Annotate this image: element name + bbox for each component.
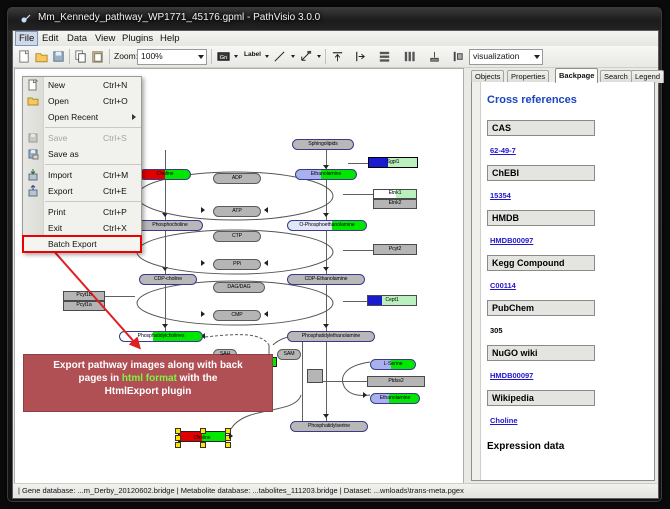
interaction-dropdown-arrow[interactable] xyxy=(317,55,321,58)
menu-item-label: Open xyxy=(48,96,69,106)
pathway-node-o-phosphoethanolamine[interactable]: O-Phosphoethanolamine xyxy=(287,220,367,231)
arrowhead-icon xyxy=(264,207,268,213)
tool-bar: Zoom: 100% Gn Label xyxy=(13,46,658,68)
menu-item-open-recent[interactable]: Open Recent xyxy=(23,109,141,125)
pathway-node-l-serine[interactable]: L-Serine xyxy=(370,359,416,370)
cofactor-node-ctp[interactable]: CTP xyxy=(213,231,261,242)
arrowhead-icon xyxy=(323,414,329,418)
gene-connector xyxy=(348,163,368,164)
gene-node-ptdss2[interactable]: Ptdss2 xyxy=(367,376,425,387)
pathway-node-ethanolamine[interactable]: Ethanolamine xyxy=(295,169,357,180)
side-panel: Objects Properties Backpage Search Legen… xyxy=(465,68,656,483)
gene-node-etnk1[interactable]: Etnk1 xyxy=(373,189,417,199)
expression-half-left xyxy=(369,158,388,167)
import-icon xyxy=(27,169,39,181)
visualization-combo[interactable]: visualization xyxy=(469,49,543,65)
menu-item-import[interactable]: Import Ctrl+M xyxy=(23,167,141,183)
menu-separator xyxy=(45,201,141,202)
toolbar-separator-3 xyxy=(211,49,212,64)
menu-item-label: New xyxy=(48,80,65,90)
annotation-callout: Export pathway images along with back pa… xyxy=(23,354,273,412)
xref-value-cas[interactable]: 62-49-7 xyxy=(490,146,516,155)
menu-item-print[interactable]: Print Ctrl+P xyxy=(23,204,141,220)
arrowhead-icon xyxy=(264,311,268,317)
backpage-panel: Cross references CAS 62-49-7 ChEBI 15354… xyxy=(471,82,655,481)
open-folder-icon xyxy=(27,95,39,107)
arrowhead-icon xyxy=(264,260,268,266)
xref-label-chebi: ChEBI xyxy=(487,165,595,181)
file-menu-popup[interactable]: New Ctrl+N Open Ctrl+O Open Recent Save xyxy=(22,76,142,253)
menu-item-batch-export[interactable]: Batch Export xyxy=(23,236,141,252)
menu-item-accel: Ctrl+M xyxy=(103,170,128,180)
xref-label-hmdb: HMDB xyxy=(487,210,595,226)
pathway-node-ethanolamine-2[interactable]: Ethanolamine xyxy=(370,393,420,404)
menu-item-accel: Ctrl+S xyxy=(103,133,127,143)
xref-value-nugo[interactable]: HMDB00097 xyxy=(490,371,533,380)
align-top-icon[interactable] xyxy=(330,49,345,64)
menu-item-open[interactable]: Open Ctrl+O xyxy=(23,93,141,109)
menu-file[interactable]: File xyxy=(15,31,38,46)
selection-handle[interactable] xyxy=(175,428,181,434)
new-document-icon xyxy=(27,79,39,91)
label-dropdown-arrow[interactable] xyxy=(265,55,269,58)
menu-bar: File Edit Data View Plugins Help xyxy=(13,31,658,47)
gene-connector xyxy=(343,301,367,302)
expression-half-left xyxy=(368,296,382,305)
label-button[interactable]: Label xyxy=(244,51,261,58)
menu-item-label: Batch Export xyxy=(48,239,97,249)
pathway-node-cdp-ethanolamine[interactable]: CDP-Ethanolamine xyxy=(287,274,365,285)
gene-node-sgpl1[interactable]: Sgpl1 xyxy=(368,157,418,168)
line-icon[interactable] xyxy=(272,49,287,64)
chevron-down-icon xyxy=(534,55,540,59)
xref-label-wikipedia: Wikipedia xyxy=(487,390,595,406)
selection-handle[interactable] xyxy=(200,428,206,434)
menu-item-label: Import xyxy=(48,170,72,180)
menu-item-label: Print xyxy=(48,207,65,217)
menu-separator xyxy=(45,127,141,128)
export-icon xyxy=(27,185,39,197)
new-icon[interactable] xyxy=(17,49,32,64)
pathway-node-sphingolipids[interactable]: Sphingolipids xyxy=(292,139,354,150)
client-area: File Edit Data View Plugins Help Zoom: 1… xyxy=(12,30,659,499)
menu-edit[interactable]: Edit xyxy=(38,32,62,45)
order-icon[interactable] xyxy=(450,49,465,64)
pathvisio-app-icon xyxy=(20,13,32,25)
toolbar-separator-4 xyxy=(325,49,326,64)
app-window: Mm_Kennedy_pathway_WP1771_45176.gpml - P… xyxy=(0,0,670,509)
gene-node-cept1[interactable]: Cept1 xyxy=(367,295,417,306)
annotation-line-3: HtmlExport plugin xyxy=(30,385,266,398)
cofactor-node-sam[interactable]: SAM xyxy=(277,349,301,360)
xref-label-pubchem: PubChem xyxy=(487,300,595,316)
zoom-combo[interactable]: 100% xyxy=(137,49,207,65)
menu-item-new[interactable]: New Ctrl+N xyxy=(23,77,141,93)
visualization-value: visualization xyxy=(473,51,519,61)
arrowhead-icon xyxy=(229,433,233,439)
menu-item-export[interactable]: Export Ctrl+E xyxy=(23,183,141,199)
cofactor-node-ppi[interactable]: PPi xyxy=(213,259,261,270)
status-bar: | Gene database: ...m_Derby_20120602.bri… xyxy=(14,483,657,497)
annotation-line-1: Export pathway images along with back xyxy=(30,359,266,372)
menu-item-label: Exit xyxy=(48,223,62,233)
arrowhead-icon xyxy=(363,392,367,398)
annotation-highlight: html format xyxy=(122,373,177,384)
selection-handle[interactable] xyxy=(225,442,231,448)
menu-item-label: Save as xyxy=(48,149,79,159)
title-bar: Mm_Kennedy_pathway_WP1771_45176.gpml - P… xyxy=(8,8,661,30)
selection-handle[interactable] xyxy=(175,442,181,448)
annotation-line-2-pre: pages in xyxy=(79,373,122,384)
menu-item-accel: Ctrl+O xyxy=(103,96,128,106)
menu-item-label: Export xyxy=(48,186,73,196)
xref-label-nugo: NuGO wiki xyxy=(487,345,595,361)
gene-connector xyxy=(343,250,373,251)
cofactor-node-dag[interactable]: DAG/DAG xyxy=(213,282,265,293)
pathway-node-choline[interactable]: Choline xyxy=(139,169,191,180)
menu-data[interactable]: Data xyxy=(63,32,91,45)
xref-value-wikipedia[interactable]: Choline xyxy=(490,416,518,425)
gene-node-pcyt2[interactable]: Pcyt2 xyxy=(373,244,417,255)
svg-text:Gn: Gn xyxy=(220,55,227,61)
panel-tabstrip: Objects Properties Backpage Search Legen… xyxy=(471,68,656,82)
save-disk-icon xyxy=(27,132,39,144)
copy-icon[interactable] xyxy=(73,49,88,64)
distribute-icon[interactable] xyxy=(402,49,417,64)
window-title: Mm_Kennedy_pathway_WP1771_45176.gpml - P… xyxy=(38,12,320,23)
menu-separator xyxy=(45,164,141,165)
toolbar-separator-2 xyxy=(109,49,110,64)
group-icon[interactable] xyxy=(427,49,442,64)
menu-item-label: Save xyxy=(48,133,67,143)
zoom-label: Zoom: xyxy=(114,51,138,61)
datanode-dropdown-arrow[interactable] xyxy=(234,55,238,58)
xref-value-chebi[interactable]: 15354 xyxy=(490,191,511,200)
xref-label-kegg: Kegg Compound xyxy=(487,255,595,271)
save-as-icon xyxy=(27,148,39,160)
gene-node-etnk2[interactable]: Etnk2 xyxy=(373,199,417,209)
selection-handle[interactable] xyxy=(200,442,206,448)
align-left-icon[interactable] xyxy=(353,49,368,64)
menu-item-label: Open Recent xyxy=(48,112,98,122)
zoom-value: 100% xyxy=(141,51,163,61)
annotation-line-2-post: with the xyxy=(177,373,218,384)
backpage-content: Cross references CAS 62-49-7 ChEBI 15354… xyxy=(481,82,654,480)
menu-help[interactable]: Help xyxy=(156,32,184,45)
menu-plugins[interactable]: Plugins xyxy=(118,32,157,45)
arrowhead-icon xyxy=(201,260,205,266)
line-dropdown-arrow[interactable] xyxy=(291,55,295,58)
toolbar-separator-1 xyxy=(69,49,70,64)
xref-value-hmdb[interactable]: HMDB00097 xyxy=(490,236,533,245)
gene-node-unlabeled-box[interactable] xyxy=(307,369,323,383)
save-icon[interactable] xyxy=(51,49,66,64)
xref-value-kegg[interactable]: C00114 xyxy=(490,281,516,290)
pathway-node-phosphatidylethanolamine[interactable]: Phosphatidylethanolamine xyxy=(287,331,375,342)
open-icon[interactable] xyxy=(34,49,49,64)
menu-item-save-as[interactable]: Save as xyxy=(23,146,141,162)
menu-view[interactable]: View xyxy=(91,32,119,45)
xref-label-cas: CAS xyxy=(487,120,595,136)
arrowhead-icon xyxy=(201,311,205,317)
tab-backpage[interactable]: Backpage xyxy=(555,68,598,83)
gene-connector xyxy=(343,194,373,195)
expression-data-heading: Expression data xyxy=(487,441,648,452)
cofactor-node-atp[interactable]: ATP xyxy=(213,206,261,217)
menu-item-save: Save Ctrl+S xyxy=(23,130,141,146)
edge-line xyxy=(165,150,166,170)
menu-item-accel: Ctrl+X xyxy=(103,223,127,233)
menu-item-exit[interactable]: Exit Ctrl+X xyxy=(23,220,141,236)
cofactor-node-adp[interactable]: ADP xyxy=(213,173,261,184)
menu-item-accel: Ctrl+N xyxy=(103,80,127,90)
status-text: | Gene database: ...m_Derby_20120602.bri… xyxy=(18,486,464,495)
window-frame: Mm_Kennedy_pathway_WP1771_45176.gpml - P… xyxy=(7,7,662,502)
chevron-down-icon xyxy=(198,55,204,59)
datanode-icon[interactable]: Gn xyxy=(216,49,231,64)
annotation-line-2: pages in html format with the xyxy=(30,372,266,385)
submenu-arrow-icon xyxy=(132,114,136,120)
menu-item-accel: Ctrl+E xyxy=(103,186,127,196)
interaction-icon[interactable] xyxy=(298,49,313,64)
menu-item-accel: Ctrl+P xyxy=(103,207,127,217)
stack-icon[interactable] xyxy=(377,49,392,64)
paste-icon[interactable] xyxy=(90,49,105,64)
backpage-scrollbar[interactable] xyxy=(472,82,481,480)
cofactor-node-cmp[interactable]: CMP xyxy=(213,310,261,321)
cross-references-heading: Cross references xyxy=(487,94,648,106)
pathway-node-phosphatidylserine[interactable]: Phosphatidylserine xyxy=(290,421,368,432)
arrowhead-icon xyxy=(201,207,205,213)
xref-value-pubchem: 305 xyxy=(490,326,503,335)
